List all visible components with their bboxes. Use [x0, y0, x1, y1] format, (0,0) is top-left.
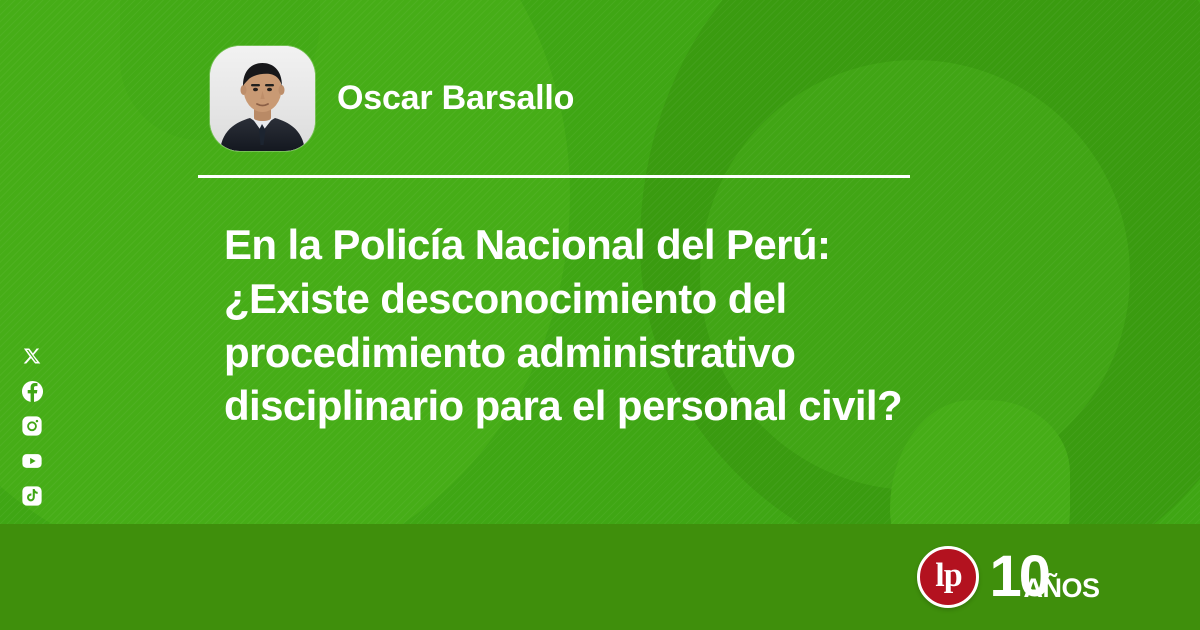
- lp-logo-mark: lp: [917, 546, 979, 608]
- tiktok-icon[interactable]: [20, 484, 44, 508]
- x-icon[interactable]: [20, 344, 44, 368]
- divider: [198, 175, 910, 178]
- avatar: [210, 46, 315, 151]
- anniversary-badge: 10 AÑOS: [989, 546, 1048, 608]
- facebook-icon[interactable]: [20, 379, 44, 403]
- author-name: Oscar Barsallo: [337, 78, 574, 119]
- social-share-card: Oscar Barsallo En la Policía Nacional de…: [0, 0, 1200, 630]
- page-title: En la Policía Nacional del Perú: ¿Existe…: [224, 218, 969, 433]
- lp-logo-text: lp: [935, 559, 961, 596]
- social-links-rail: [20, 344, 44, 508]
- anniversary-word: AÑOS: [1023, 575, 1099, 602]
- youtube-icon[interactable]: [20, 449, 44, 473]
- instagram-icon[interactable]: [20, 414, 44, 438]
- brand-logo: lp 10 AÑOS: [917, 546, 1048, 608]
- author-block: Oscar Barsallo: [210, 46, 574, 151]
